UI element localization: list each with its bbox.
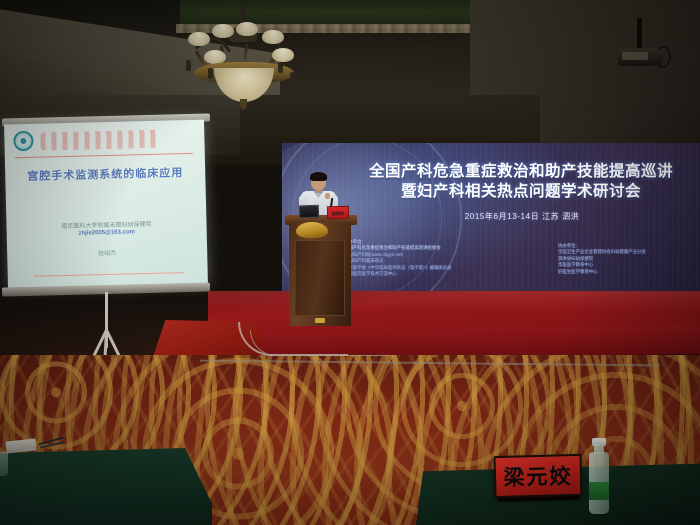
sponsor-left-item-2: 中国妇产科临床杂志: [344, 258, 554, 264]
chandelier-crystal-1: [186, 60, 191, 71]
projector-cable: [655, 46, 671, 68]
banner-title-line2: 暨妇产科相关热点问题学术研讨会: [282, 179, 700, 201]
chandelier-lamp-cup-1: [188, 32, 210, 46]
chandelier-crystal-3: [278, 62, 283, 73]
podium-name-card: 赵绍杰: [327, 206, 349, 219]
delegate-name-card: 梁元姣: [493, 454, 582, 498]
podium-front-panel: [295, 240, 345, 316]
chandelier-bowl: [214, 68, 274, 102]
sponsor-left-item-3: 中华医学会《中华临床医师杂志（电子版）》编辑委员会: [344, 265, 554, 271]
banner-sponsor-left-block: 主办单位： 全国产科危急重症救治和助产技能提高巡讲组委会 中国妇产科网(www.…: [344, 239, 554, 277]
projector-mount: [637, 18, 642, 48]
chandelier-finial: [240, 99, 247, 110]
slide-divider-top: [15, 153, 193, 158]
projector-lens: [622, 52, 648, 60]
chandelier-lamp-cup-2: [212, 24, 234, 38]
slide-title: 宫腔手术监测系统的临床应用: [5, 164, 205, 185]
laptop-icon: [299, 205, 319, 219]
sponsor-left-item-0: 全国产科危急重症救治和助产技能提高巡讲组委会: [344, 245, 554, 251]
podium-gold-emblem: [296, 222, 328, 238]
sponsor-left-label: 主办单位：: [344, 239, 554, 245]
sponsor-left-item-1: 中国妇产科网(www.obgyn.net): [344, 252, 554, 258]
speaker-hair: [310, 172, 327, 181]
hospital-logo-icon: [13, 131, 33, 151]
bottle-label: [589, 482, 609, 500]
speaker-hand: [325, 193, 330, 199]
chandelier-lamp-cup-4: [262, 30, 284, 44]
sponsor-right-label: 协办单位：: [558, 243, 700, 249]
slide-decorative-band: [40, 130, 160, 151]
projection-screen: 宫腔手术监测系统的临床应用 南京医科大学附属无锡妇幼保健院 zhjie2005@…: [4, 120, 208, 290]
sponsor-right-item-0: 全国卫生产业企业管理协会妇幼健康产业分会: [558, 249, 700, 255]
cable-connector: [315, 318, 325, 323]
conference-hall-photo: 宫腔手术监测系统的临床应用 南京医科大学附属无锡妇幼保健院 zhjie2005@…: [0, 0, 700, 525]
stage-cable-2: [250, 330, 390, 356]
chandelier-icon: [178, 6, 310, 106]
stage-sheen: [208, 291, 700, 311]
sponsor-left-item-4: 中国医院医学技术交流中心: [344, 271, 554, 277]
slide-presenter-name: 赵绍杰: [7, 246, 207, 260]
drinking-glass-icon: [0, 452, 8, 476]
banner-title-line1: 全国产科危急重症救治和助产技能提高巡讲: [282, 159, 700, 181]
sponsor-right-item-2: 华医医学教育中心: [558, 262, 700, 268]
chandelier-lamp-cup-6: [272, 48, 294, 62]
foreground-table-left: [0, 448, 212, 525]
sponsor-right-item-1: 泗洪县妇幼保健院: [558, 256, 700, 262]
chandelier-crystal-4: [290, 72, 295, 83]
sponsor-right-item-3: 好医生医学教育中心: [558, 269, 700, 275]
chandelier-crystal-2: [208, 68, 213, 79]
chandelier-lamp-cup-3: [236, 22, 258, 36]
banner-sponsor-right-block: 协办单位： 全国卫生产业企业管理协会妇幼健康产业分会 泗洪县妇幼保健院 华医医学…: [558, 243, 700, 275]
slide-divider-bottom: [34, 272, 184, 277]
delegate-name-text: 梁元姣: [503, 460, 573, 492]
